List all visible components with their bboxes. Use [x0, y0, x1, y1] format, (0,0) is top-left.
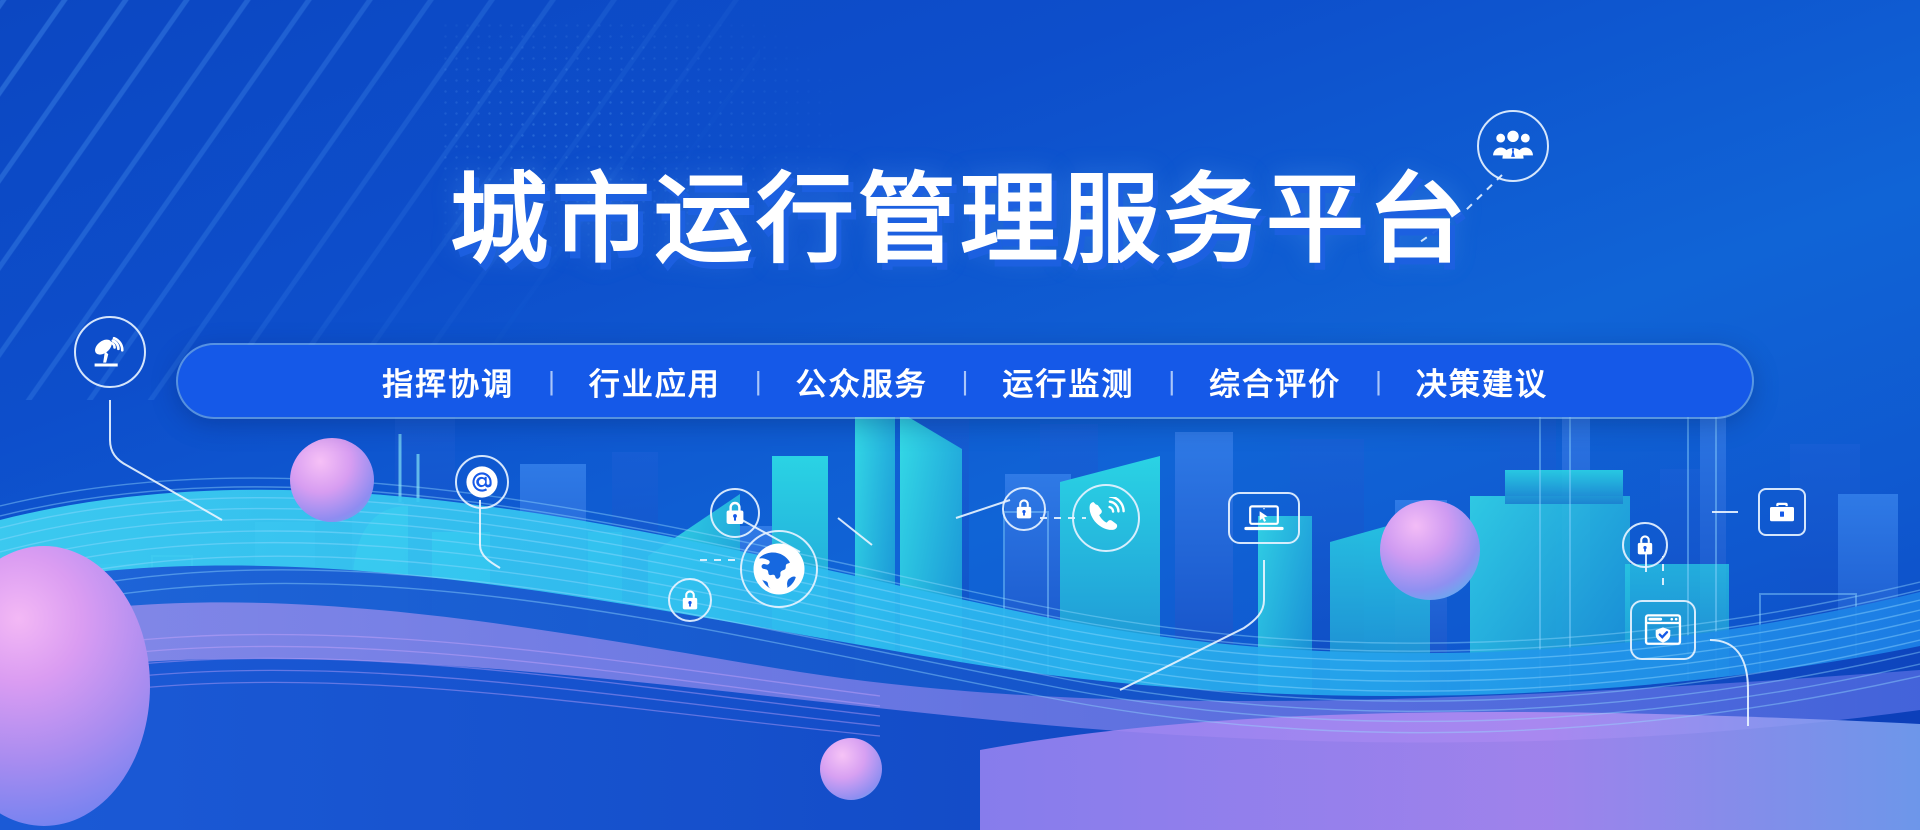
gradient-orb-bottom — [820, 738, 882, 800]
phone-signal-pin — [1072, 484, 1140, 552]
satellite-dish-pin — [74, 316, 146, 388]
nav-separator: | — [755, 366, 762, 397]
padlock-pin-mid — [1002, 487, 1046, 531]
at-email-pin — [455, 455, 509, 509]
browser-shield-icon — [1630, 600, 1696, 660]
globe-icon — [740, 530, 818, 608]
nav-item-gongzhong-fuwu[interactable]: 公众服务 — [762, 359, 962, 404]
nav-item-zhihui-xietiao[interactable]: 指挥协调 — [348, 359, 548, 404]
padlock-icon-lower — [668, 578, 712, 622]
at-email-icon — [455, 455, 509, 509]
briefcase-icon — [1758, 488, 1806, 536]
phone-waves-icon — [1072, 484, 1140, 552]
padlock-pin-lower — [668, 578, 712, 622]
laptop-cursor-icon — [1228, 492, 1300, 544]
nav-separator: | — [962, 366, 969, 397]
gradient-orb-right — [1380, 500, 1480, 600]
people-group-pin — [1477, 110, 1549, 182]
padlock-icon-mid — [1002, 487, 1046, 531]
nav-separator: | — [1168, 366, 1175, 397]
nav-item-juece-jianyi[interactable]: 决策建议 — [1382, 359, 1582, 404]
nav-item-hangye-yingyong[interactable]: 行业应用 — [555, 359, 755, 404]
nav-separator: | — [1375, 366, 1382, 397]
briefcase-pin — [1758, 488, 1806, 536]
laptop-cursor-pin — [1228, 492, 1300, 544]
city-platform-banner: 城市运行管理服务平台 指挥协调 | 行业应用 | 公众服务 | 运行监测 | 综… — [0, 0, 1920, 830]
page-title: 城市运行管理服务平台 — [450, 168, 1470, 272]
primary-nav-bar[interactable]: 指挥协调 | 行业应用 | 公众服务 | 运行监测 | 综合评价 | 决策建议 — [178, 345, 1752, 417]
title-block: 城市运行管理服务平台 — [0, 168, 1920, 272]
padlock-icon-right — [1622, 522, 1668, 568]
gradient-orb-small-left — [290, 438, 374, 522]
padlock-pin-right — [1622, 522, 1668, 568]
satellite-dish-icon — [74, 316, 146, 388]
people-group-icon — [1477, 110, 1549, 182]
nav-separator: | — [548, 366, 555, 397]
nav-item-zonghe-pingjia[interactable]: 综合评价 — [1175, 359, 1375, 404]
browser-shield-pin — [1630, 600, 1696, 660]
nav-item-yunxing-jiance[interactable]: 运行监测 — [968, 359, 1168, 404]
globe-pin — [740, 530, 818, 608]
